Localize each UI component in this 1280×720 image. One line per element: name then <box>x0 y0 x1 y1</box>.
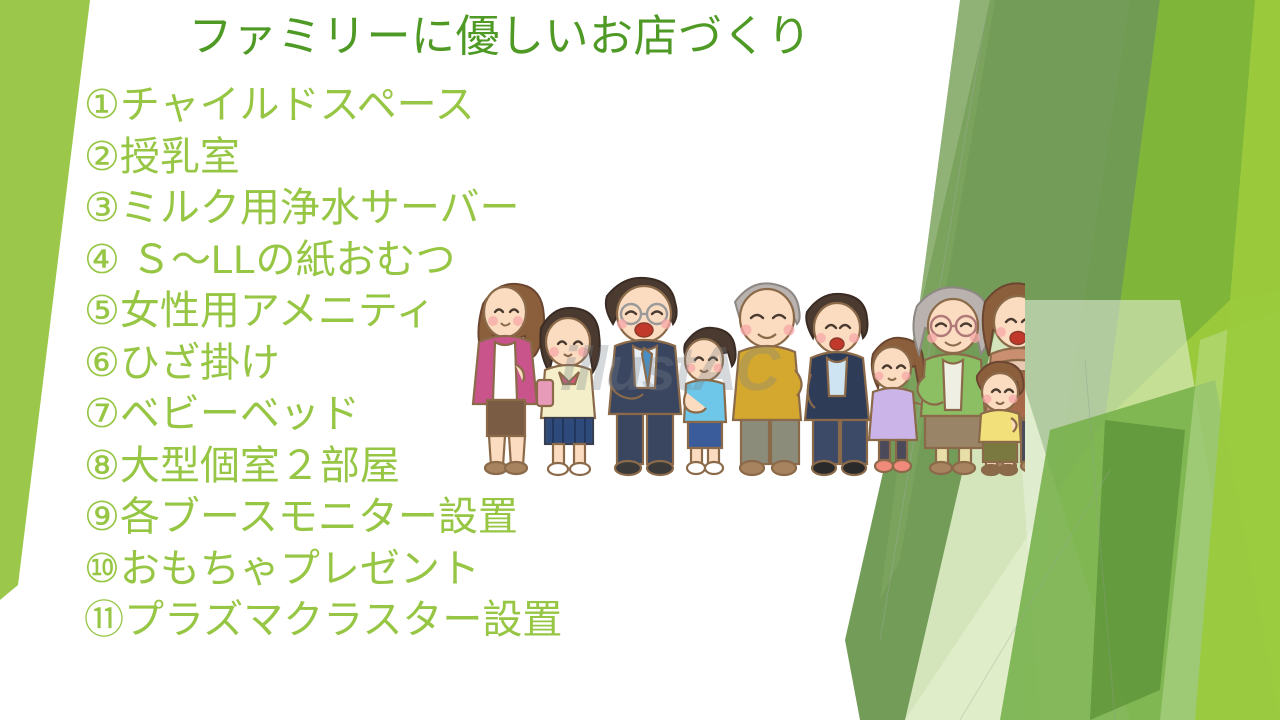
facet-right-base <box>1020 0 1280 720</box>
list-item: ⑤女性用アメニティ <box>84 286 844 338</box>
list-item: ⑧大型個室２部屋 <box>84 441 844 493</box>
figure-toddler-yellow <box>977 362 1024 475</box>
list-item: ③ミルク用浄水サーバー <box>84 183 844 235</box>
presentation-slide: ファミリーに優しいお店づくり .sk { fill:#FBDCC0; strok… <box>0 0 1280 720</box>
list-item: ⑪プラズマクラスター設置 <box>84 595 844 647</box>
list-item: ①チャイルドスペース <box>84 80 844 132</box>
list-item: ②授乳室 <box>84 132 844 184</box>
list-item: ⑨各ブースモニター設置 <box>84 492 844 544</box>
facet-mid-lower <box>1000 380 1280 720</box>
left-green-band <box>0 0 90 600</box>
facet-hairline-3 <box>1085 360 1115 720</box>
facet-bright-upper <box>1105 0 1255 420</box>
feature-list: ①チャイルドスペース ②授乳室 ③ミルク用浄水サーバー ④ Ｓ～LLの紙おむつ … <box>84 80 844 647</box>
facet-deep-lower <box>1090 420 1185 720</box>
facet-faint-lower <box>1010 300 1250 720</box>
list-item: ⑦ベビーベッド <box>84 389 844 441</box>
list-item: ④ Ｓ～LLの紙おむつ <box>84 235 844 287</box>
list-item: ⑩おもちゃプレゼント <box>84 544 844 596</box>
facet-hairline-2 <box>960 470 1110 720</box>
slide-title: ファミリーに優しいお店づくり <box>120 8 880 66</box>
facet-bright-right-column <box>1195 290 1280 720</box>
facet-pale-right <box>1160 310 1280 720</box>
list-item: ⑥ひざ掛け <box>84 338 844 390</box>
